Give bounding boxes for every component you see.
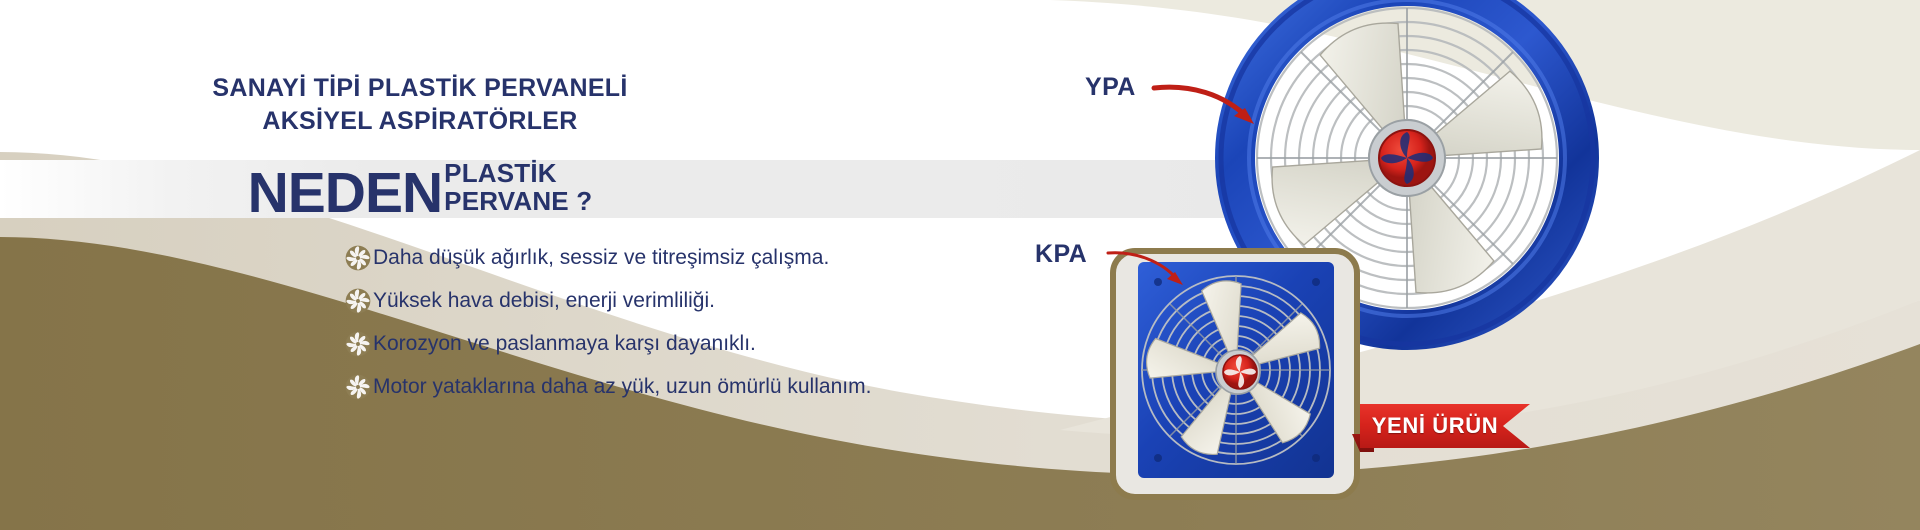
callout-kpa-label: KPA [1035, 240, 1087, 268]
page-title: NEDEN PLASTİK PERVANE ? [0, 160, 840, 219]
status-badge: YENİ ÜRÜN [1352, 404, 1530, 452]
kicker-text: SANAYİ TİPİ PLASTİK PERVANELİ AKSİYEL AS… [0, 72, 840, 137]
list-item: Korozyon ve paslanmaya karşı dayanıklı. [345, 331, 1045, 357]
headline-primary: NEDEN [248, 167, 443, 219]
promo-banner: SANAYİ TİPİ PLASTİK PERVANELİ AKSİYEL AS… [0, 0, 1920, 530]
list-item: Daha düşük ağırlık, sessiz ve titreşimsi… [345, 245, 1045, 271]
callout-kpa: KPA [1035, 240, 1087, 269]
headline-secondary: PLASTİK PERVANE ? [444, 160, 592, 219]
list-item-label: Daha düşük ağırlık, sessiz ve titreşimsi… [373, 245, 829, 270]
feature-list: Daha düşük ağırlık, sessiz ve titreşimsi… [345, 245, 1045, 417]
fan-bullet-icon [345, 245, 371, 271]
fan-bullet-icon [345, 374, 371, 400]
callout-ypa: YPA [1085, 73, 1136, 102]
list-item-label: Korozyon ve paslanmaya karşı dayanıklı. [373, 331, 756, 356]
ribbon-label: YENİ ÜRÜN [1360, 404, 1510, 448]
headline-secondary-line-1: PLASTİK [444, 160, 592, 188]
copy-block: SANAYİ TİPİ PLASTİK PERVANELİ AKSİYEL AS… [0, 0, 1000, 530]
callout-ypa-label: YPA [1085, 73, 1136, 101]
fan-bullet-icon [345, 288, 371, 314]
list-item: Yüksek hava debisi, enerji verimliliği. [345, 288, 1045, 314]
ypa-arrow-icon [1150, 68, 1270, 138]
kicker-line-2: AKSİYEL ASPİRATÖRLER [0, 105, 840, 138]
list-item-label: Motor yataklarına daha az yük, uzun ömür… [373, 374, 871, 399]
kpa-arrow-icon [1105, 243, 1205, 303]
list-item-label: Yüksek hava debisi, enerji verimliliği. [373, 288, 715, 313]
list-item: Motor yataklarına daha az yük, uzun ömür… [345, 374, 1045, 400]
kicker-line-1: SANAYİ TİPİ PLASTİK PERVANELİ [212, 74, 627, 102]
fan-bullet-icon [345, 331, 371, 357]
headline-secondary-line-2: PERVANE ? [444, 188, 592, 216]
